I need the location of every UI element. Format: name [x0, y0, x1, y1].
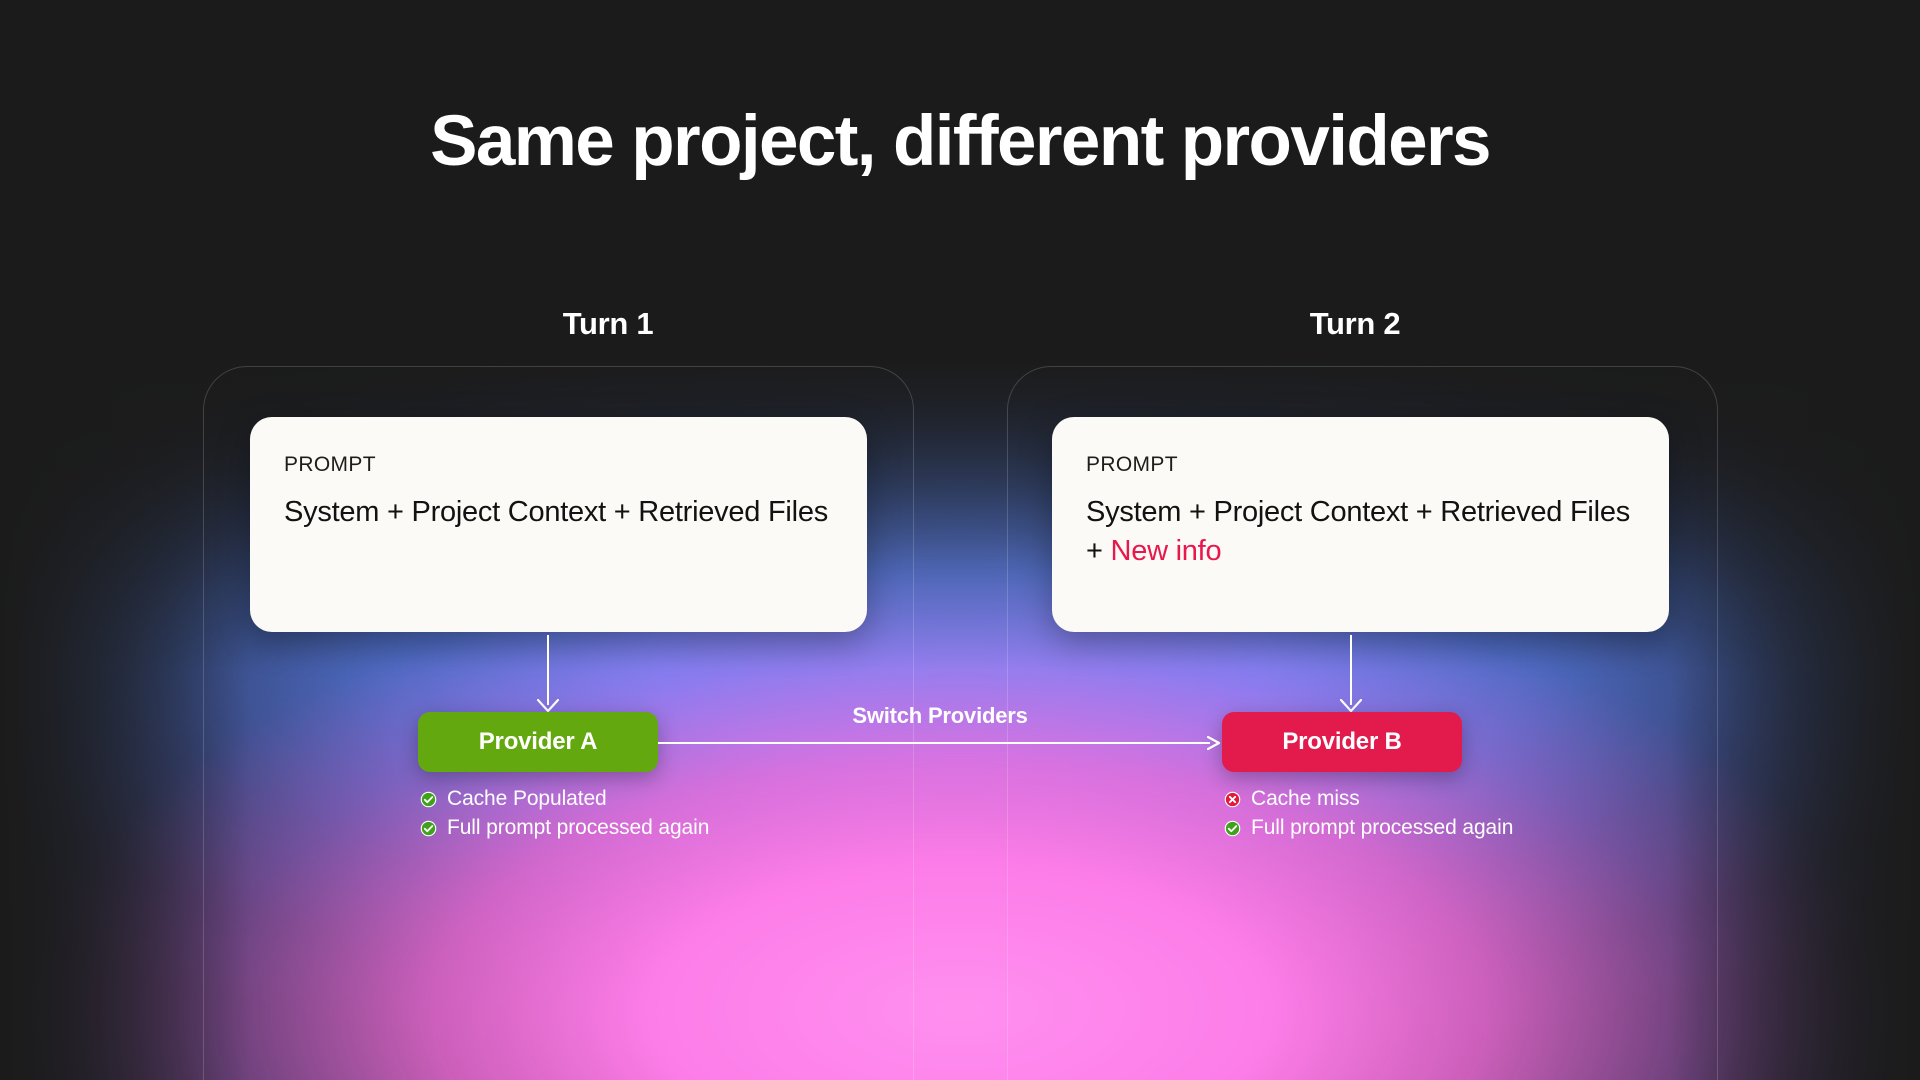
turn-1-status-list: Cache Populated Full prompt processed ag… — [420, 787, 709, 845]
turn-1-label: Turn 1 — [498, 306, 718, 342]
arrow-head-right-icon — [1206, 735, 1222, 751]
status-item: Cache miss — [1224, 787, 1513, 811]
status-item: Full prompt processed again — [420, 816, 709, 840]
check-circle-icon — [420, 820, 437, 837]
status-label: Cache miss — [1251, 787, 1360, 811]
prompt-body-highlight: New info — [1111, 535, 1222, 567]
prompt-kicker: PROMPT — [284, 453, 833, 477]
provider-a-label: Provider A — [479, 728, 597, 756]
turn-2-prompt-card: PROMPT System + Project Context + Retrie… — [1052, 417, 1669, 632]
page-title: Same project, different providers — [0, 104, 1920, 179]
switch-providers-label: Switch Providers — [658, 703, 1222, 729]
status-label: Cache Populated — [447, 787, 607, 811]
turn-2-status-list: Cache miss Full prompt processed again — [1224, 787, 1513, 845]
status-label: Full prompt processed again — [1251, 816, 1513, 840]
arrow-head-down-icon — [1340, 699, 1362, 713]
prompt-body-plain: System + Project Context + Retrieved Fil… — [284, 496, 828, 528]
arrow-shaft — [1350, 635, 1352, 705]
status-item: Full prompt processed again — [1224, 816, 1513, 840]
x-circle-icon — [1224, 791, 1241, 808]
provider-b-button[interactable]: Provider B — [1222, 712, 1462, 772]
prompt-kicker: PROMPT — [1086, 453, 1635, 477]
slide-canvas: Same project, different providers Turn 1… — [0, 0, 1920, 1080]
check-circle-icon — [420, 791, 437, 808]
provider-b-label: Provider B — [1282, 728, 1401, 756]
status-item: Cache Populated — [420, 787, 709, 811]
prompt-body: System + Project Context + Retrieved Fil… — [284, 493, 833, 532]
arrow-shaft — [658, 742, 1210, 744]
turn-2-down-arrow-icon — [1340, 635, 1362, 717]
arrow-shaft — [547, 635, 549, 705]
turn-1-prompt-card: PROMPT System + Project Context + Retrie… — [250, 417, 867, 632]
check-circle-icon — [1224, 820, 1241, 837]
arrow-head-down-icon — [537, 699, 559, 713]
switch-providers-arrow-icon — [658, 735, 1222, 751]
turn-1-down-arrow-icon — [537, 635, 559, 717]
provider-a-button[interactable]: Provider A — [418, 712, 658, 772]
turn-2-label: Turn 2 — [1245, 306, 1465, 342]
status-label: Full prompt processed again — [447, 816, 709, 840]
prompt-body: System + Project Context + Retrieved Fil… — [1086, 493, 1635, 572]
